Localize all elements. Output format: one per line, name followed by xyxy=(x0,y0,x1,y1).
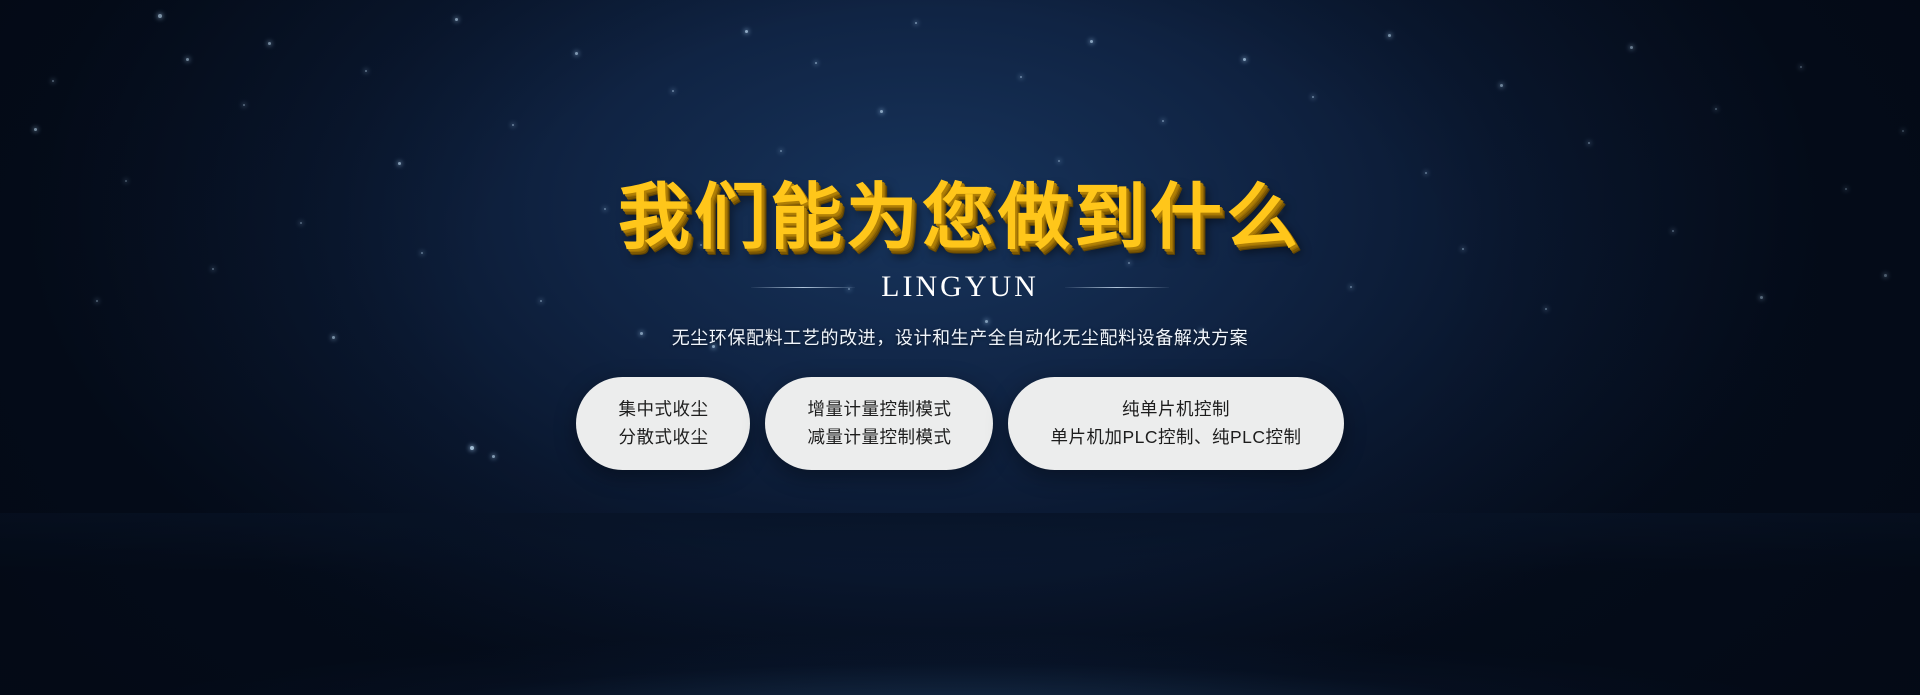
feature-card-control-system[interactable]: 纯单片机控制 单片机加PLC控制、纯PLC控制 xyxy=(1008,377,1343,470)
divider-left xyxy=(751,287,855,288)
hero-description: 无尘环保配料工艺的改进，设计和生产全自动化无尘配料设备解决方案 xyxy=(672,324,1249,350)
divider-right xyxy=(1065,287,1169,288)
card-line-2: 单片机加PLC控制、纯PLC控制 xyxy=(1050,429,1301,447)
hero-content: 我们能为您做到什么 LINGYUN 无尘环保配料工艺的改进，设计和生产全自动化无… xyxy=(0,0,1920,695)
feature-card-list: 集中式收尘 分散式收尘 增量计量控制模式 减量计量控制模式 纯单片机控制 单片机… xyxy=(576,377,1343,470)
page-title: 我们能为您做到什么 xyxy=(618,182,1302,254)
card-line-1: 集中式收尘 xyxy=(618,401,708,419)
brand-subtitle: LINGYUN xyxy=(881,270,1039,304)
subtitle-row: LINGYUN xyxy=(751,270,1169,304)
card-line-1: 增量计量控制模式 xyxy=(807,401,951,419)
feature-card-metering-mode[interactable]: 增量计量控制模式 减量计量控制模式 xyxy=(765,377,993,470)
card-line-1: 纯单片机控制 xyxy=(1122,401,1230,419)
card-line-2: 减量计量控制模式 xyxy=(807,429,951,447)
card-line-2: 分散式收尘 xyxy=(618,429,708,447)
hero-banner: 我们能为您做到什么 LINGYUN 无尘环保配料工艺的改进，设计和生产全自动化无… xyxy=(0,0,1920,695)
feature-card-dust-collection[interactable]: 集中式收尘 分散式收尘 xyxy=(576,377,750,470)
